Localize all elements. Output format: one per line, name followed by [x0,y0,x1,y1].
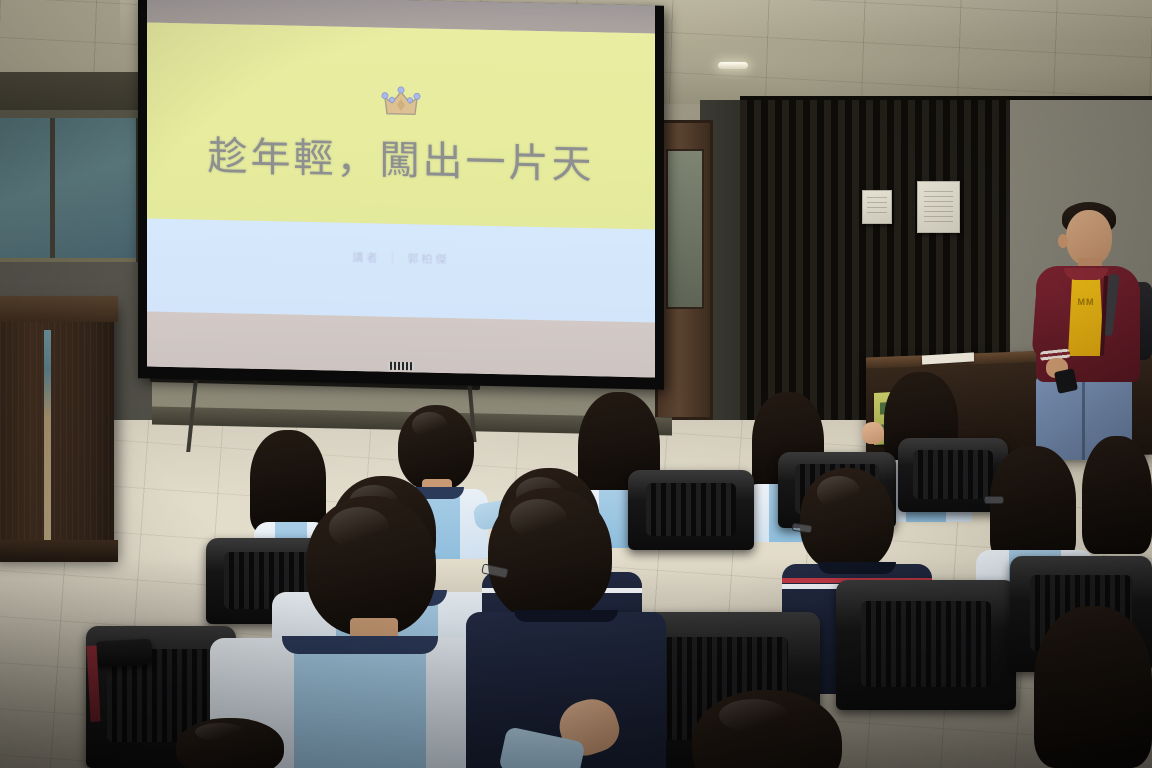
window-mullion [50,118,55,262]
student-head [800,468,894,572]
poster-small [862,190,892,224]
lectern-base [0,540,118,562]
standing-presenter: MM [1028,198,1152,460]
student-hair [990,446,1076,562]
tshirt-print: MM [1068,297,1104,307]
screen-surface: 趁年輕，闖出一片天 講者 ｜ 郭柏傑 [147,0,655,378]
poster-text-lines [867,197,887,217]
hoodie-collar [1064,268,1108,280]
slide-title: 趁年輕，闖出一片天 [147,122,655,191]
lectern-podium [0,300,114,558]
uniform-collar [818,562,896,574]
student-hair [250,430,326,534]
seat-armrest [95,639,152,668]
slide-band-blue [147,219,655,323]
uniform-blue-panel [294,638,426,768]
student-hair [1034,606,1152,768]
uniform-collar [282,636,438,654]
student-hair [1082,436,1152,554]
ceiling-light-icon [718,62,748,69]
screen-brand-logo [388,362,414,371]
student-head [176,718,284,768]
crown-icon [379,86,423,124]
eyeglasses-icon [984,496,1004,504]
student-head [488,488,612,622]
seat-back-ribs [913,450,992,499]
jeans-seam [1082,378,1085,460]
poster-text-lines [924,191,954,223]
wood-grain [0,300,114,558]
presentation-slide: 趁年輕，闖出一片天 講者 ｜ 郭柏傑 [147,22,655,377]
left-window-panel [0,118,140,268]
uniform-collar [514,610,618,622]
lectern-side-gap [44,330,51,550]
auditorium-seat[interactable] [836,580,1016,710]
student-hand [862,422,884,444]
poster-large [917,181,960,233]
handheld-phone [1054,368,1078,394]
seat-back-ribs [646,483,737,536]
seat-back-ribs [861,601,991,687]
projection-screen: 趁年輕，闖出一片天 講者 ｜ 郭柏傑 [138,0,664,390]
door-window-pane [666,149,704,309]
presenter-ear [1058,234,1068,248]
presenter-tshirt: MM [1068,272,1104,356]
student-head [306,496,436,636]
lecture-hall-scene: 趁年輕，闖出一片天 講者 ｜ 郭柏傑 MM [0,0,1152,768]
lectern-top [0,296,118,322]
auditorium-seat[interactable] [628,470,754,550]
